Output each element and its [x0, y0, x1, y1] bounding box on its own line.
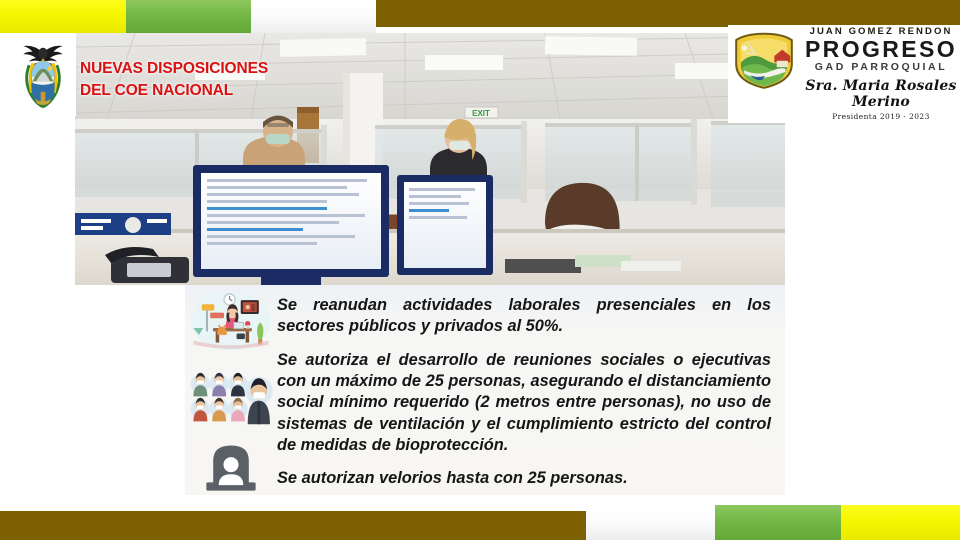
decor-bar-top-olive — [376, 0, 960, 27]
measure-paragraph-2: Se autoriza el desarrollo de reuniones s… — [277, 350, 771, 457]
gad-progreso-logo: JUAN GOMEZ RENDON PROGRESO GAD PARROQUIA… — [728, 25, 960, 123]
counter-signage — [75, 213, 171, 235]
gad-logo-text: JUAN GOMEZ RENDON PROGRESO GAD PARROQUIA… — [800, 25, 960, 121]
headline: NUEVAS DISPOSICIONES DEL COE NACIONAL — [80, 58, 410, 103]
svg-text:EXIT: EXIT — [472, 109, 490, 118]
decor-bar-top-white — [251, 0, 376, 33]
group-of-people-icon — [189, 363, 273, 427]
progreso-crest-icon — [728, 29, 800, 91]
memorial-vigil-icon — [189, 440, 273, 492]
ecuador-coat-of-arms-icon — [14, 38, 72, 112]
ecuador-emblem-panel — [10, 34, 76, 116]
office-desk-icon — [189, 289, 273, 353]
measures-panel: Se reanudan actividades laborales presen… — [185, 285, 785, 495]
president-name: Sra. Maria Rosales Merino — [802, 78, 960, 110]
slide-canvas: EXIT — [0, 0, 960, 540]
decor-bar-bottom-yellow — [841, 505, 960, 540]
computer-monitor-left — [193, 165, 389, 285]
headline-line-1: NUEVAS DISPOSICIONES — [80, 58, 410, 80]
decor-bar-top-yellow — [0, 0, 126, 33]
decor-bar-top-green — [126, 0, 251, 33]
measure-paragraph-1: Se reanudan actividades laborales presen… — [277, 295, 771, 338]
measure-paragraph-3: Se autorizan velorios hasta con 25 perso… — [277, 468, 771, 489]
gad-logo-line-3: GAD PARROQUIAL — [802, 62, 960, 74]
measures-text-column: Se reanudan actividades laborales presen… — [277, 285, 785, 495]
exit-sign-graphic: EXIT — [465, 107, 498, 118]
gad-logo-line-2: PROGRESO — [802, 38, 960, 61]
decor-bar-bottom-white — [586, 505, 715, 540]
measures-icon-column — [185, 285, 277, 495]
decor-bar-bottom-green — [715, 505, 841, 540]
headline-line-2: DEL COE NACIONAL — [80, 80, 410, 102]
computer-monitor-right — [397, 175, 493, 275]
president-term: Presidenta 2019 - 2023 — [802, 112, 960, 121]
decor-bar-bottom-olive — [0, 511, 586, 540]
